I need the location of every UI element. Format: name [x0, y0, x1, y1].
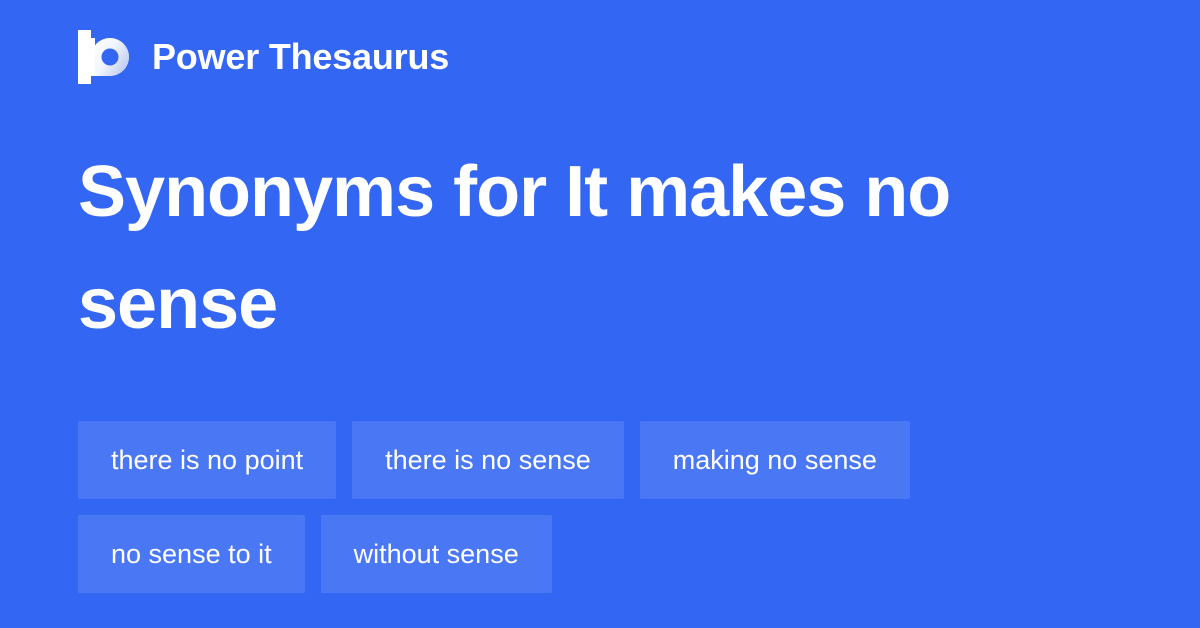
synonym-chip[interactable]: there is no sense [352, 421, 624, 499]
brand-name: Power Thesaurus [152, 39, 449, 75]
synonym-chip[interactable]: no sense to it [78, 515, 305, 593]
synonym-chip[interactable]: making no sense [640, 421, 910, 499]
synonym-chip-list: there is no point there is no sense maki… [78, 421, 1122, 593]
page-title: Synonyms for It makes no sense [78, 136, 1118, 360]
synonym-chip[interactable]: without sense [321, 515, 552, 593]
brand-header[interactable]: Power Thesaurus [78, 28, 449, 86]
synonym-chip[interactable]: there is no point [78, 421, 336, 499]
power-thesaurus-b-logo-icon [78, 30, 130, 84]
share-card: Power Thesaurus Synonyms for It makes no… [0, 0, 1200, 628]
